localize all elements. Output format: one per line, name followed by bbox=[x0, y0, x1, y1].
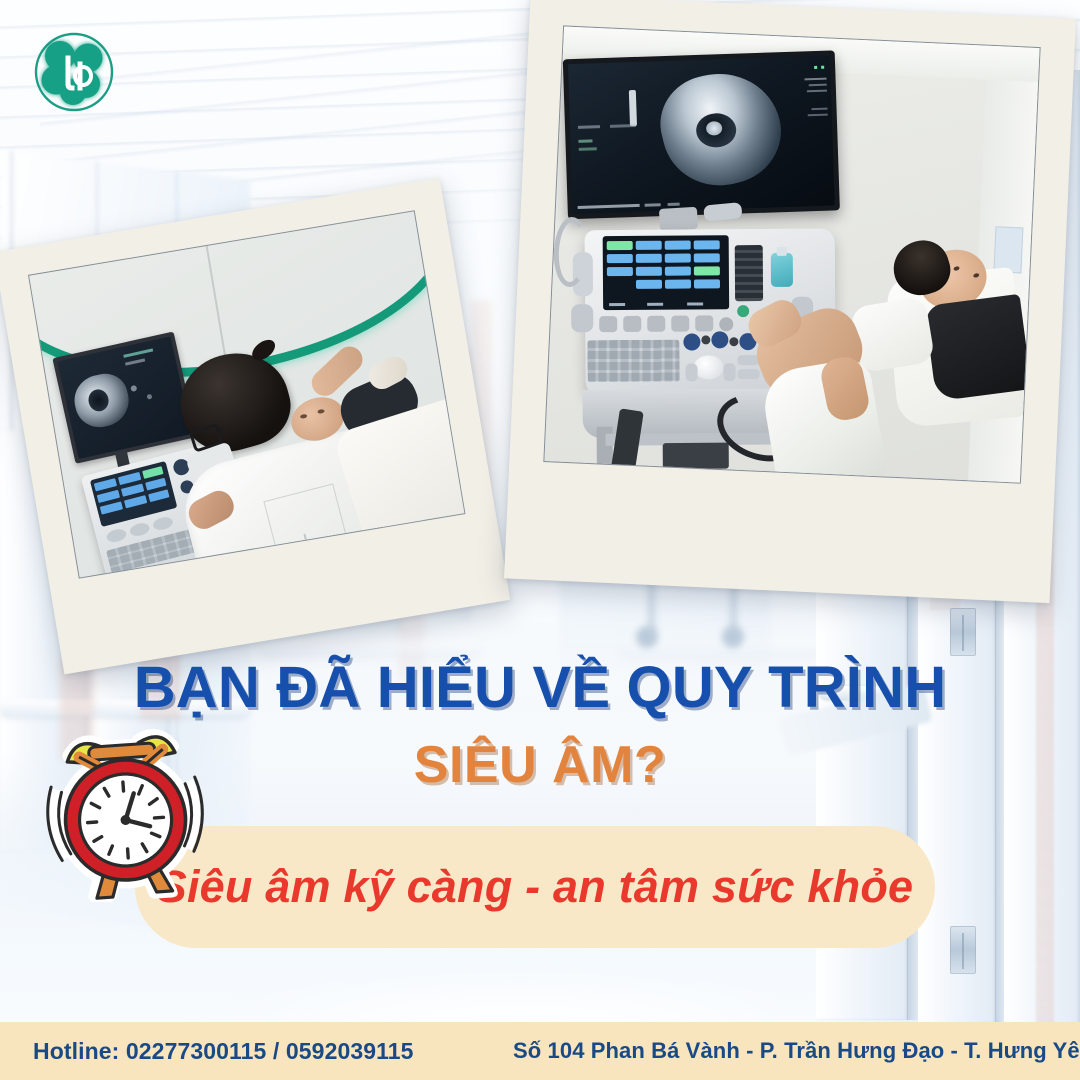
alarm-clock-icon bbox=[35, 712, 215, 902]
clover-circle-logo bbox=[20, 18, 128, 126]
footer-bar: Hotline: 02277300115 / 0592039115 Số 104… bbox=[0, 1022, 1080, 1080]
left-photo bbox=[28, 210, 465, 578]
right-photo bbox=[543, 25, 1040, 483]
address-text: Số 104 Phan Bá Vành - P. Trần Hưng Đạo -… bbox=[513, 1038, 1080, 1064]
hotline-text[interactable]: Hotline: 02277300115 / 0592039115 bbox=[33, 1038, 414, 1065]
headline-line-1: BẠN ĐÃ HIỂU VỀ QUY TRÌNH bbox=[0, 654, 1080, 721]
photo-frame-right bbox=[504, 0, 1076, 603]
slogan-text: Siêu âm kỹ càng - an tâm sức khỏe bbox=[135, 826, 935, 948]
photo-frame-left bbox=[0, 178, 510, 675]
poster-canvas: BẠN ĐÃ HIỂU VỀ QUY TRÌNH SIÊU ÂM? Siêu â… bbox=[0, 0, 1080, 1080]
